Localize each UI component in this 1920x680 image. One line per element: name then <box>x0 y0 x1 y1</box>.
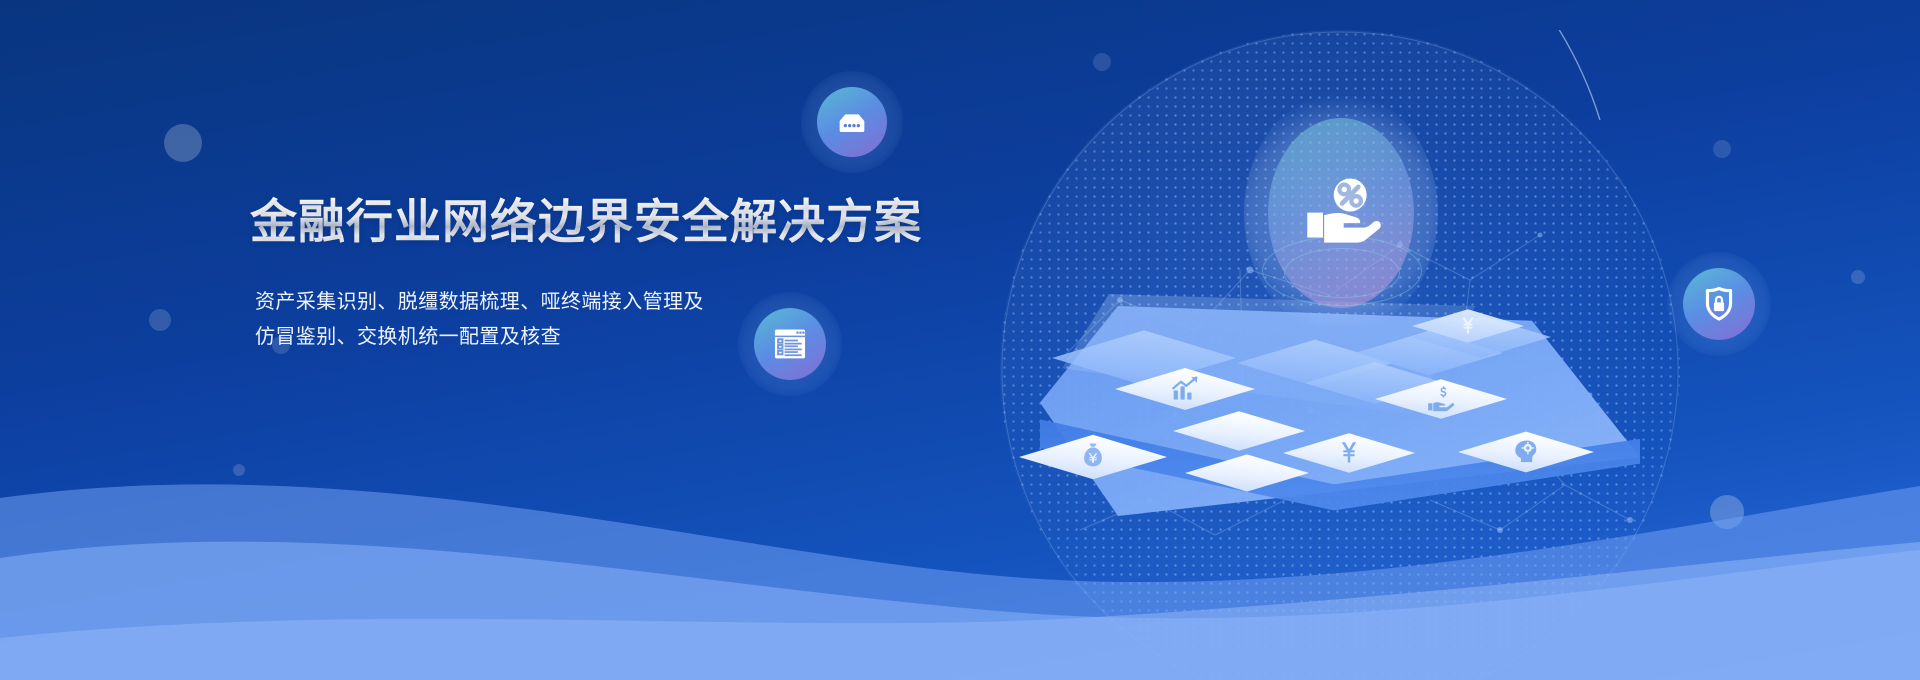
subtitle-line-1: 资产采集识别、脱缰数据梳理、哑终端接入管理及 <box>255 285 1010 320</box>
decorative-dot <box>149 309 171 331</box>
yen-small-icon <box>1456 314 1480 338</box>
browser-list-icon <box>769 323 811 365</box>
page-title: 金融行业网络边界安全解决方案 <box>250 196 1010 249</box>
tile-yen-small <box>1440 298 1496 354</box>
shield-lock-icon <box>1698 283 1740 325</box>
bubble-network-switch[interactable] <box>817 87 887 157</box>
bubble-hand-percent[interactable] <box>1268 118 1414 308</box>
decorative-dot <box>164 124 202 162</box>
bubble-shield-lock[interactable] <box>1683 268 1755 340</box>
bottom-wave-decoration <box>0 400 1920 680</box>
decorative-dot <box>1851 270 1865 284</box>
network-switch-icon <box>832 102 872 142</box>
hero-banner: 金融行业网络边界安全解决方案 资产采集识别、脱缰数据梳理、哑终端接入管理及 仿冒… <box>0 0 1920 680</box>
subtitle-line-2: 仿冒鉴别、交换机统一配置及核查 <box>255 320 1010 355</box>
hand-percent-icon <box>1295 167 1387 259</box>
page-subtitle: 资产采集识别、脱缰数据梳理、哑终端接入管理及 仿冒鉴别、交换机统一配置及核查 <box>255 285 1010 355</box>
banner-copy: 金融行业网络边界安全解决方案 资产采集识别、脱缰数据梳理、哑终端接入管理及 仿冒… <box>250 196 1010 355</box>
decorative-dot <box>1713 140 1731 158</box>
